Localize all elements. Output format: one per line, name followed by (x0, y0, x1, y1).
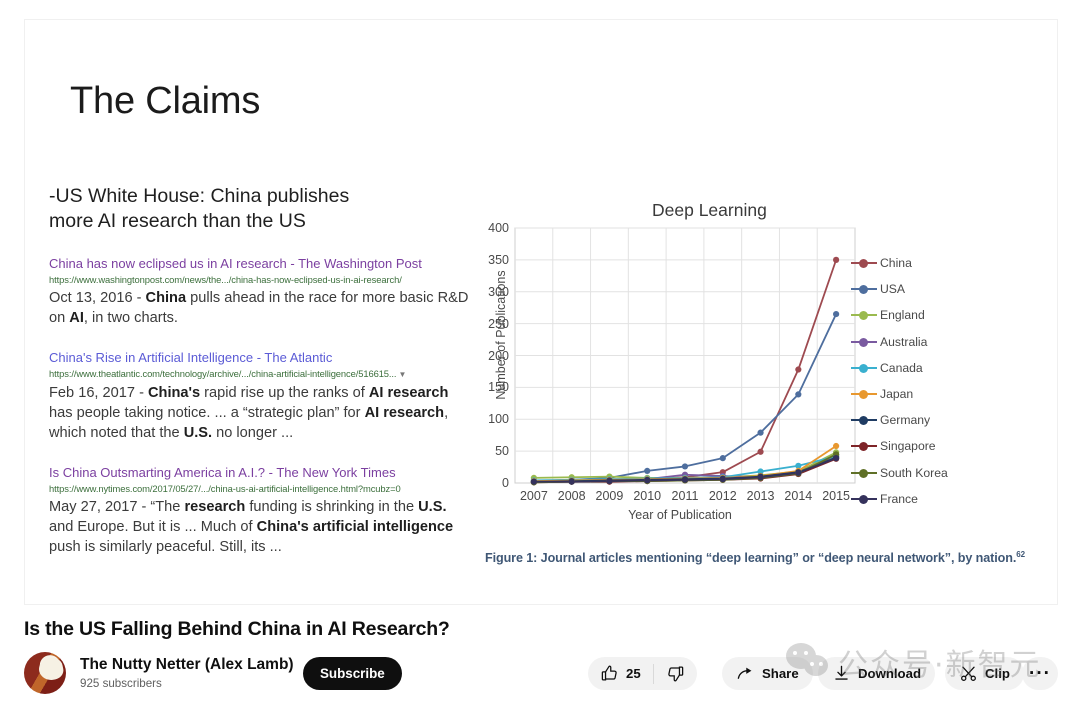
chart-plot-area: 0501001502002503003504002007200820092010… (515, 228, 855, 483)
legend-swatch-icon (851, 309, 877, 321)
figure-caption-superscript: 62 (1016, 550, 1025, 559)
legend-label: Singapore (880, 439, 936, 453)
thumbs-up-icon[interactable] (600, 664, 619, 683)
video-player[interactable]: The Claims -US White House: China publis… (24, 19, 1058, 605)
chart-x-tick: 2009 (596, 489, 624, 503)
chart-data-point (531, 479, 537, 485)
legend-label: England (880, 308, 925, 322)
chevron-down-icon[interactable]: ▼ (396, 370, 406, 379)
avatar[interactable] (24, 652, 66, 694)
search-results-list: China has now eclipsed us in AI research… (49, 256, 469, 557)
chart-y-tick: 400 (488, 221, 509, 235)
search-result-title[interactable]: China's Rise in Artificial Intelligence … (49, 350, 469, 366)
share-icon (736, 664, 755, 683)
legend-swatch-icon (851, 414, 877, 426)
clip-button[interactable]: Clip (945, 657, 1024, 690)
legend-swatch-icon (851, 467, 877, 479)
legend-label: Germany (880, 413, 930, 427)
legend-swatch-icon (851, 336, 877, 348)
more-actions-button[interactable]: ··· (1022, 657, 1058, 690)
video-title: Is the US Falling Behind China in AI Res… (24, 618, 450, 641)
chart-data-point (795, 470, 801, 476)
download-label: Download (858, 666, 921, 681)
pill-divider (653, 664, 654, 684)
legend-swatch-icon (851, 257, 877, 269)
chart-data-point (795, 366, 801, 372)
chart-y-tick: 150 (488, 380, 509, 394)
chart-data-point (757, 449, 763, 455)
search-result-url[interactable]: https://www.washingtonpost.com/news/the.… (49, 273, 469, 286)
legend-label: Australia (880, 335, 927, 349)
chart-y-tick: 200 (488, 349, 509, 363)
chart-x-tick: 2007 (520, 489, 548, 503)
search-result-snippet: May 27, 2017 - “The research funding is … (49, 497, 469, 557)
search-result-snippet: Oct 13, 2016 - China pulls ahead in the … (49, 288, 469, 328)
legend-label: Japan (880, 387, 913, 401)
search-result-date: May 27, 2017 - (49, 499, 150, 515)
chart-y-tick: 0 (502, 476, 509, 490)
chart-data-point (833, 443, 839, 449)
search-result-date: Feb 16, 2017 - (49, 385, 148, 401)
channel-info: The Nutty Netter (Alex Lamb) 925 subscri… (80, 655, 294, 692)
figure-caption: Figure 1: Journal articles mentioning “d… (485, 550, 1057, 565)
chart-legend: ChinaUSAEnglandAustraliaCanadaJapanGerma… (851, 250, 1051, 512)
legend-swatch-icon (851, 493, 877, 505)
chart-legend-item: Japan (851, 381, 1051, 407)
search-result-url[interactable]: https://www.nytimes.com/2017/05/27/.../c… (49, 482, 469, 495)
chart-data-point (569, 479, 575, 485)
download-icon (832, 664, 851, 683)
scissors-icon (959, 664, 978, 683)
chart-data-point (833, 257, 839, 263)
chart-data-point (682, 477, 688, 483)
clip-label: Clip (985, 666, 1010, 681)
chart-x-tick: 2014 (784, 489, 812, 503)
like-count: 25 (626, 666, 641, 681)
download-button[interactable]: Download (818, 657, 935, 690)
chart-data-point (795, 391, 801, 397)
legend-label: China (880, 256, 912, 270)
claim-line-1: -US White House: China publishes (49, 184, 469, 209)
search-result: Is China Outsmarting America in A.I.? - … (49, 465, 469, 557)
chart-data-point (833, 455, 839, 461)
chart-data-point (606, 478, 612, 484)
legend-label: South Korea (880, 466, 948, 480)
chart-data-point (644, 477, 650, 483)
chart-legend-item: England (851, 302, 1051, 328)
chart-x-tick: 2010 (633, 489, 661, 503)
subscribe-button[interactable]: Subscribe (303, 657, 402, 690)
legend-swatch-icon (851, 283, 877, 295)
search-result-title[interactable]: China has now eclipsed us in AI research… (49, 256, 469, 272)
chart-data-point (757, 474, 763, 480)
chart-data-point (644, 468, 650, 474)
like-dislike-group[interactable]: 25 (588, 657, 697, 690)
chart-y-tick: 350 (488, 253, 509, 267)
chart-data-point (720, 476, 726, 482)
deep-learning-chart: Deep Learning Number of Publications 050… (477, 178, 1057, 578)
chart-legend-item: France (851, 486, 1051, 512)
chart-legend-item: Singapore (851, 433, 1051, 459)
chart-legend-item: Germany (851, 407, 1051, 433)
legend-label: USA (880, 282, 905, 296)
youtube-watch-page: The Claims -US White House: China publis… (0, 0, 1080, 706)
legend-swatch-icon (851, 388, 877, 400)
legend-label: France (880, 492, 918, 506)
chart-data-point (757, 430, 763, 436)
search-result-title[interactable]: Is China Outsmarting America in A.I.? - … (49, 465, 469, 481)
legend-swatch-icon (851, 362, 877, 374)
chart-y-tick: 100 (488, 412, 509, 426)
chart-legend-item: USA (851, 276, 1051, 302)
chart-legend-item: Canada (851, 355, 1051, 381)
chart-svg (515, 228, 855, 483)
chart-data-point (682, 463, 688, 469)
chart-legend-item: South Korea (851, 460, 1051, 486)
chart-x-axis-label: Year of Publication (505, 508, 855, 522)
chart-title: Deep Learning (652, 200, 767, 221)
search-result: China's Rise in Artificial Intelligence … (49, 350, 469, 443)
channel-row[interactable]: The Nutty Netter (Alex Lamb) 925 subscri… (24, 652, 294, 694)
chart-y-tick: 50 (495, 444, 509, 458)
share-label: Share (762, 666, 799, 681)
chart-y-tick: 250 (488, 317, 509, 331)
chart-x-tick: 2015 (822, 489, 850, 503)
figure-caption-text: Figure 1: Journal articles mentioning “d… (485, 551, 1016, 565)
chart-x-tick: 2011 (672, 489, 699, 503)
chart-legend-item: Australia (851, 329, 1051, 355)
chart-x-tick: 2012 (709, 489, 737, 503)
chart-y-tick: 300 (488, 285, 509, 299)
search-result-date: Oct 13, 2016 - (49, 290, 146, 306)
chart-x-tick: 2008 (558, 489, 586, 503)
search-result-url[interactable]: https://www.theatlantic.com/technology/a… (49, 367, 469, 381)
search-result: China has now eclipsed us in AI research… (49, 256, 469, 328)
chart-x-tick: 2013 (747, 489, 775, 503)
legend-swatch-icon (851, 440, 877, 452)
legend-label: Canada (880, 361, 923, 375)
subscriber-count: 925 subscribers (80, 676, 294, 692)
slide-left-column: -US White House: China publishes more AI… (49, 184, 469, 557)
chart-data-point (720, 455, 726, 461)
claim-line-2: more AI research than the US (49, 209, 469, 234)
channel-name[interactable]: The Nutty Netter (Alex Lamb) (80, 655, 294, 675)
share-button[interactable]: Share (722, 657, 813, 690)
slide-title: The Claims (70, 80, 260, 123)
chart-legend-item: China (851, 250, 1051, 276)
thumbs-down-icon[interactable] (666, 664, 685, 683)
chart-data-point (833, 311, 839, 317)
search-result-snippet: Feb 16, 2017 - China's rapid rise up the… (49, 383, 469, 443)
